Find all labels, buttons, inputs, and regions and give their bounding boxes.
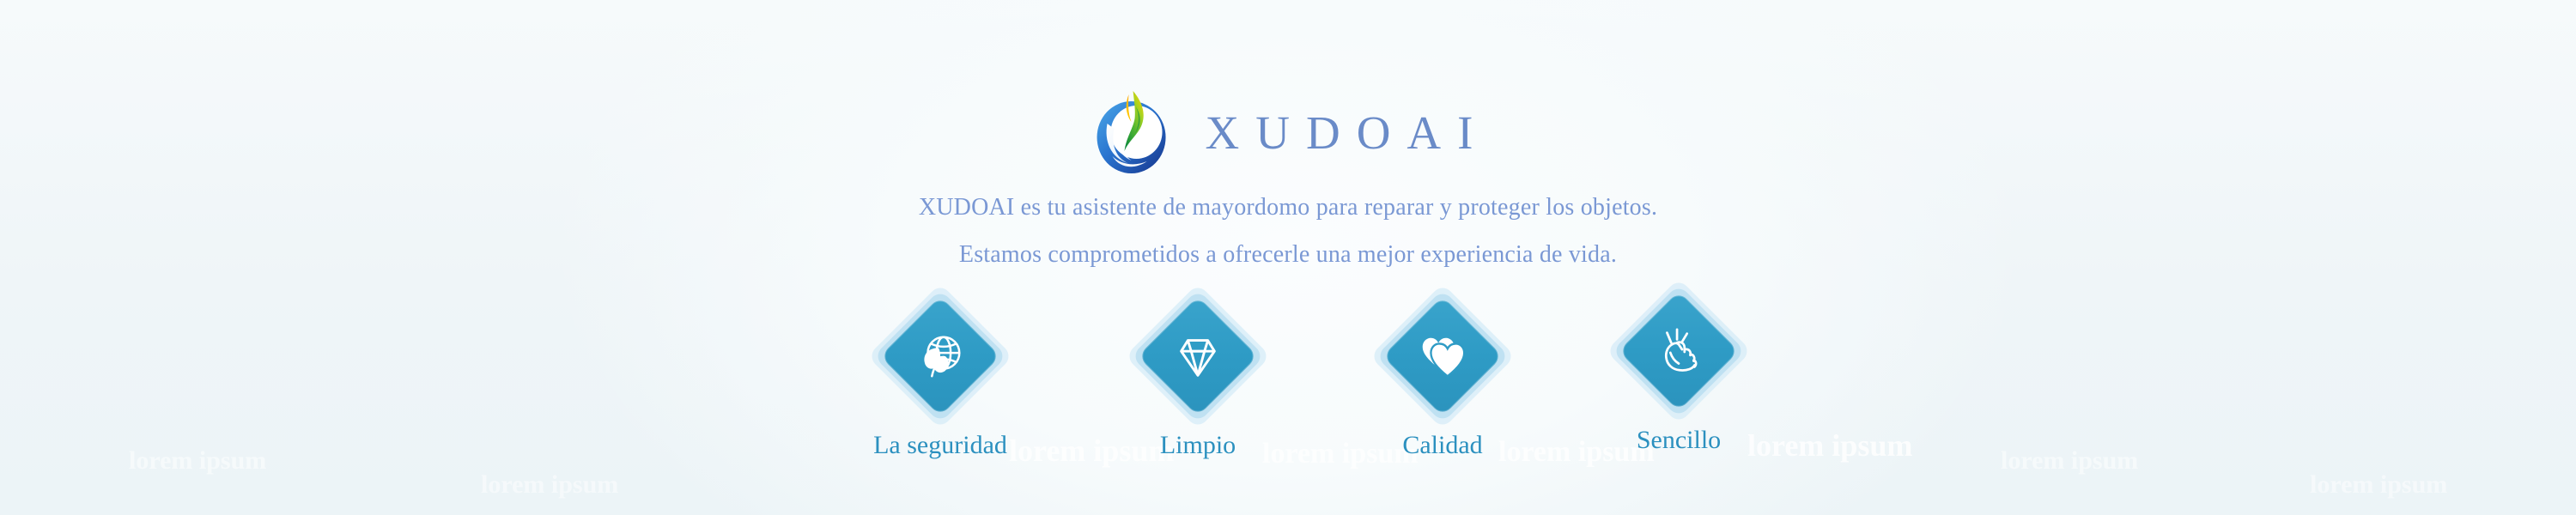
two-hearts-icon: [1416, 330, 1469, 383]
feature-la-seguridad[interactable]: La seguridad: [841, 285, 1039, 460]
feature-badge: [869, 285, 1012, 427]
hero-banner: lorem ipsum lorem ipsum lorem ipsum lore…: [0, 0, 2576, 515]
tagline-secondary: Estamos comprometidos a ofrecerle una me…: [0, 241, 2576, 269]
brand-wordmark: XUDOAI: [1206, 106, 1490, 156]
globe-leaf-icon: [914, 330, 967, 383]
snapping-fingers-icon: [1652, 324, 1705, 378]
feature-label: La seguridad: [841, 431, 1039, 460]
feature-calidad[interactable]: Calidad: [1344, 285, 1541, 460]
feature-badge: [1607, 280, 1750, 422]
brand-lockup[interactable]: XUDOAI: [1087, 84, 1490, 177]
xudoai-leaf-sphere-logo-icon: [1087, 84, 1176, 177]
hero-content: XUDOAI XUDOAI es tu asistente de mayordo…: [0, 0, 2576, 515]
feature-label: Sencillo: [1580, 426, 1777, 455]
feature-label: Limpio: [1099, 431, 1297, 460]
feature-badge: [1127, 285, 1269, 427]
feature-limpio[interactable]: Limpio: [1099, 285, 1297, 460]
feature-label: Calidad: [1344, 431, 1541, 460]
feature-sencillo[interactable]: Sencillo: [1580, 280, 1777, 455]
diamond-gem-icon: [1171, 330, 1224, 383]
tagline-primary: XUDOAI es tu asistente de mayordomo para…: [0, 194, 2576, 221]
feature-badge: [1371, 285, 1514, 427]
